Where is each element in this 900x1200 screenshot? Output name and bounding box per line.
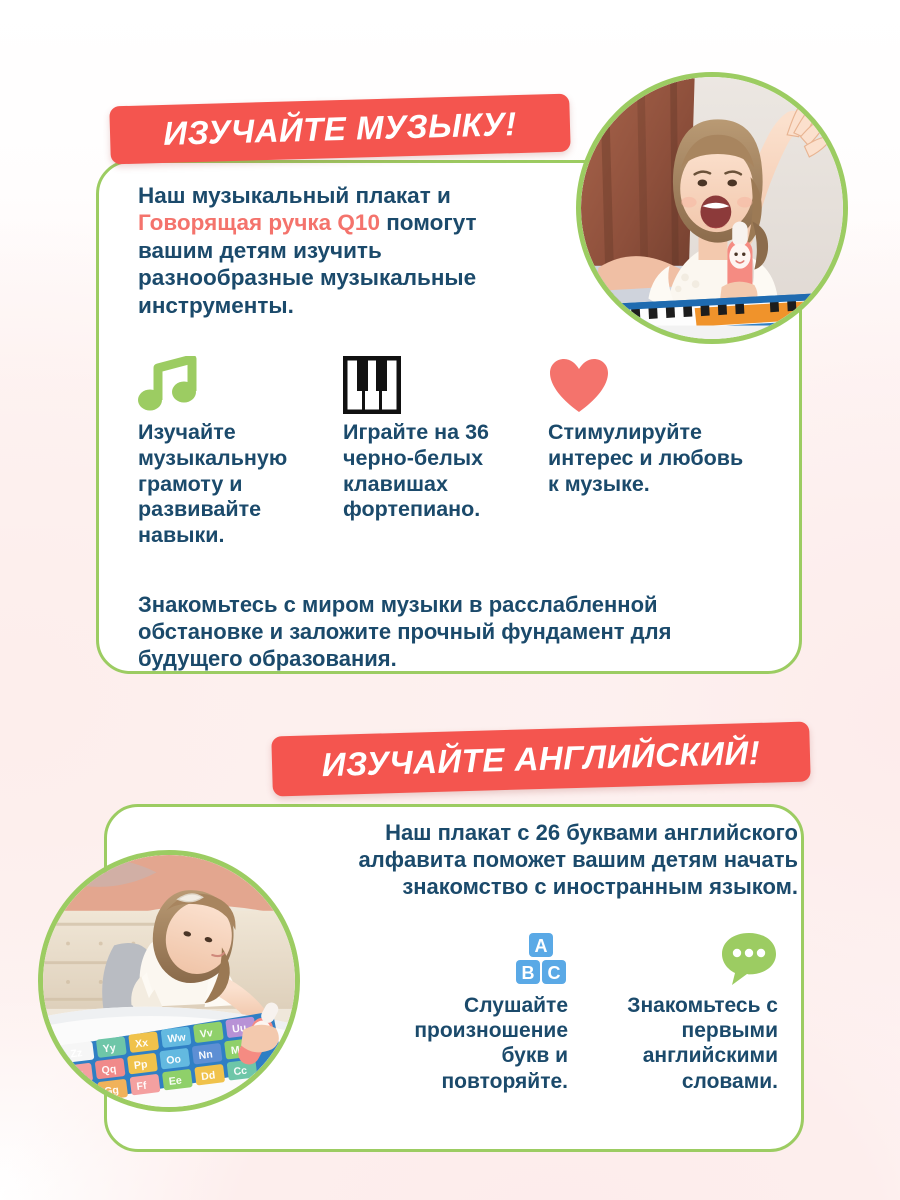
feature-first-words-text: Знакомьтесь с первыми английскими словам… [580, 993, 778, 1094]
feature-love-music-text: Стимулируйте интерес и любовь к музыке. [548, 420, 753, 497]
svg-text:Qq: Qq [101, 1063, 117, 1077]
svg-text:Gg: Gg [104, 1084, 120, 1098]
svg-text:Zz: Zz [70, 1047, 83, 1060]
svg-text:Ee: Ee [168, 1075, 182, 1089]
svg-text:B: B [522, 963, 535, 983]
english-ribbon-label: ИЗУЧАЙТЕ АНГЛИЙСКИЙ! [321, 734, 760, 784]
svg-text:C: C [548, 963, 561, 983]
svg-text:Yy: Yy [102, 1042, 116, 1056]
piano-keys-icon [343, 352, 548, 414]
music-intro-highlight: Говорящая ручка Q10 [138, 210, 380, 235]
english-features-list: ABC Слушайте произношение букв и повторя… [370, 925, 790, 1094]
svg-text:Ww: Ww [167, 1031, 187, 1045]
svg-text:Xx: Xx [135, 1037, 149, 1051]
music-features-list: Изучайте музыкальную грамоту и развивайт… [138, 352, 798, 549]
english-section-photo: ZzYyXx WwVvUu RrQqPp OoNnMm HhGgFf EeDdC… [38, 850, 300, 1112]
music-ribbon-label: ИЗУЧАЙТЕ МУЗЫКУ! [163, 105, 517, 153]
feature-first-words: Знакомьтесь с первыми английскими словам… [580, 925, 790, 1094]
svg-text:Vv: Vv [199, 1027, 213, 1041]
feature-music-literacy: Изучайте музыкальную грамоту и развивайт… [138, 352, 343, 549]
svg-text:Nn: Nn [198, 1048, 213, 1062]
music-outro-paragraph: Знакомьтесь с миром музыки в расслабленн… [138, 592, 768, 672]
music-intro-paragraph: Наш музыкальный плакат и Говорящая ручка… [138, 182, 540, 319]
abc-blocks-icon: ABC [370, 925, 568, 987]
svg-text:Pp: Pp [133, 1058, 148, 1072]
feature-music-literacy-text: Изучайте музыкальную грамоту и развивайт… [138, 420, 343, 549]
music-note-icon [138, 352, 343, 414]
svg-text:A: A [535, 936, 548, 956]
feature-listen-pronunciation-text: Слушайте произношение букв и повторяйте. [370, 993, 568, 1094]
english-intro-paragraph: Наш плакат с 26 буквами английского алфа… [286, 820, 798, 900]
svg-text:Oo: Oo [166, 1053, 183, 1067]
svg-text:Ff: Ff [136, 1080, 148, 1093]
feature-piano-keys: Играйте на 36 черно-белых клавишах форте… [343, 352, 548, 549]
feature-piano-keys-text: Играйте на 36 черно-белых клавишах форте… [343, 420, 548, 523]
speech-bubble-icon [580, 925, 778, 987]
svg-text:Cc: Cc [233, 1065, 248, 1079]
music-section-photo [576, 72, 848, 344]
heart-icon [548, 352, 753, 414]
svg-text:Dd: Dd [201, 1069, 216, 1083]
music-intro-part1: Наш музыкальный плакат и [138, 183, 451, 208]
feature-listen-pronunciation: ABC Слушайте произношение букв и повторя… [370, 925, 580, 1094]
feature-love-music: Стимулируйте интерес и любовь к музыке. [548, 352, 753, 549]
